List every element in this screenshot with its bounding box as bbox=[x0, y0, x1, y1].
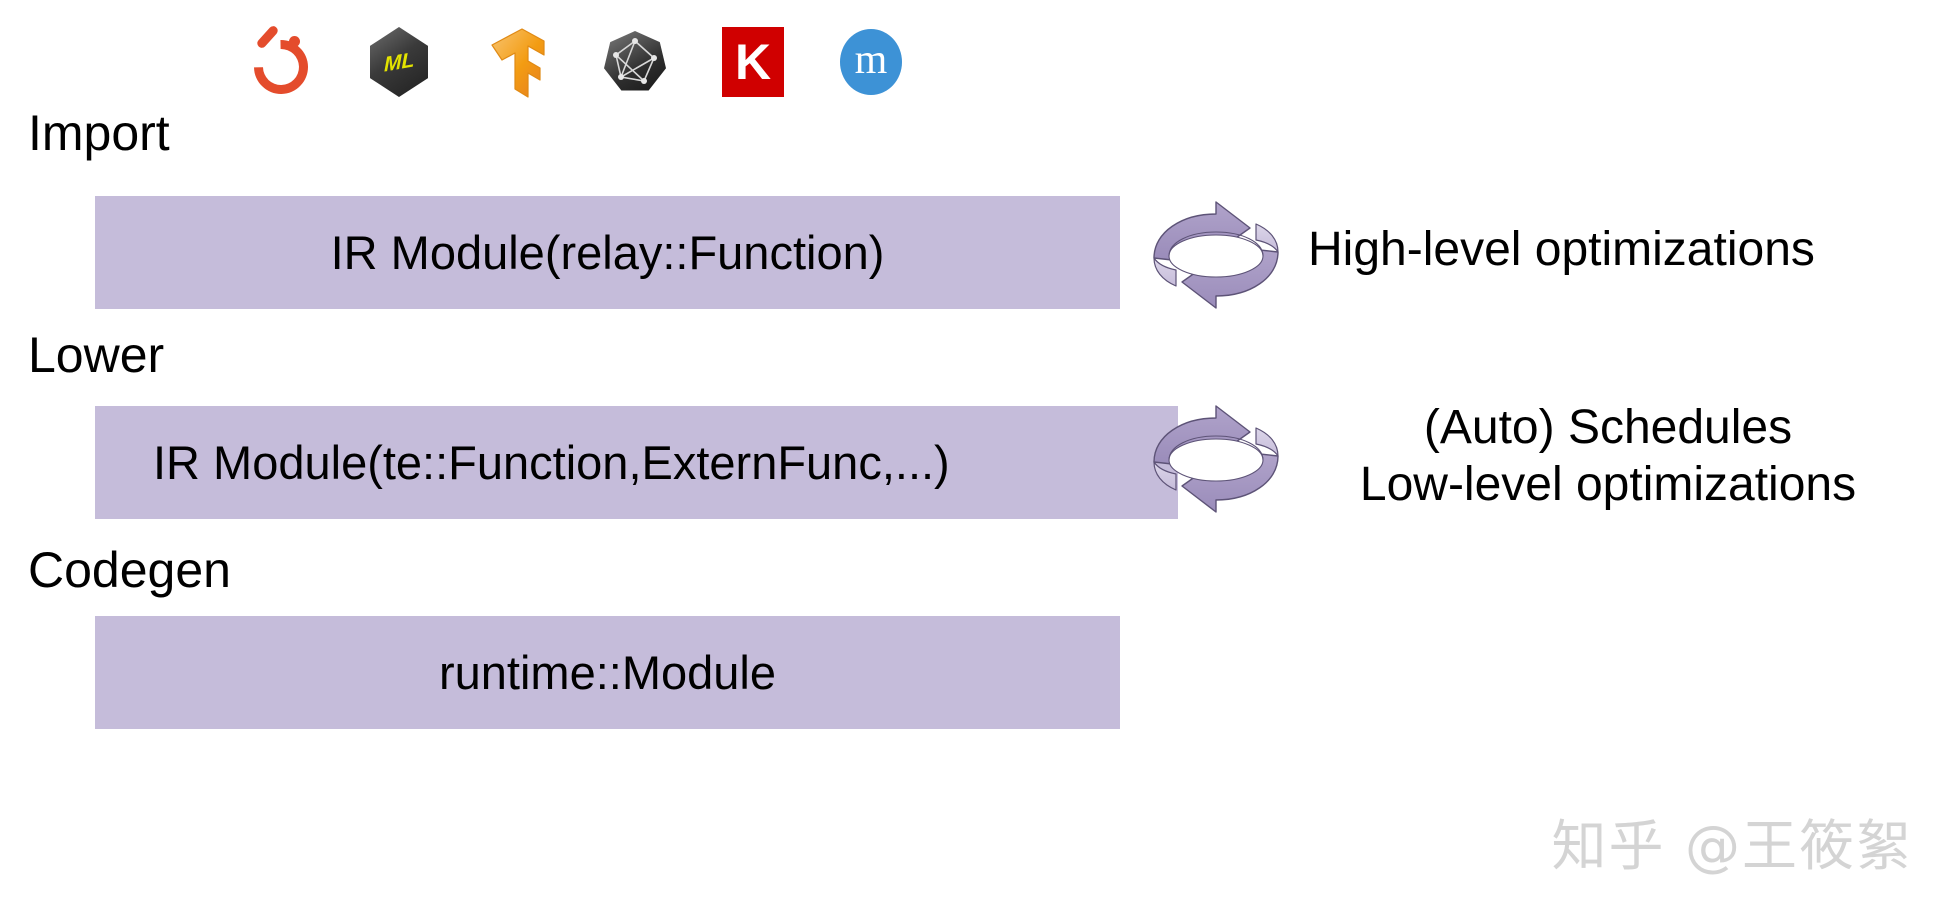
coreml-icon-glyph: m bbox=[855, 39, 888, 81]
module-box-te-label: IR Module(te::Function,ExternFunc,...) bbox=[153, 439, 950, 486]
cycle-arrows-icon bbox=[1142, 196, 1290, 314]
note-low-level-optimizations: (Auto) Schedules Low-level optimizations bbox=[1308, 400, 1908, 513]
module-box-runtime: runtime::Module bbox=[95, 616, 1120, 729]
stage-label-import: Import bbox=[28, 108, 170, 158]
zhihu-watermark: 知乎 @王筱絮 bbox=[1552, 819, 1913, 874]
pytorch-icon bbox=[245, 16, 317, 108]
mxnet-icon-glyph: ML bbox=[384, 49, 414, 75]
note-high-level-optimizations: High-level optimizations bbox=[1308, 222, 1815, 279]
stage-label-codegen: Codegen bbox=[28, 545, 231, 595]
module-box-te: IR Module(te::Function,ExternFunc,...) bbox=[95, 406, 1178, 519]
keras-icon: K bbox=[717, 16, 789, 108]
note-low-level-line1: (Auto) Schedules bbox=[1308, 400, 1908, 457]
stage-label-lower: Lower bbox=[28, 330, 164, 380]
framework-logo-strip: ML bbox=[245, 14, 907, 110]
onnx-icon bbox=[599, 16, 671, 108]
note-low-level-line2: Low-level optimizations bbox=[1308, 457, 1908, 514]
diagram-canvas: ML bbox=[0, 0, 1933, 902]
cycle-arrows-icon bbox=[1142, 400, 1290, 518]
module-box-relay-label: IR Module(relay::Function) bbox=[331, 229, 885, 276]
mxnet-icon: ML bbox=[363, 16, 435, 108]
tensorflow-icon bbox=[481, 16, 553, 108]
module-box-relay: IR Module(relay::Function) bbox=[95, 196, 1120, 309]
module-box-runtime-label: runtime::Module bbox=[439, 649, 776, 696]
coreml-icon: m bbox=[835, 16, 907, 108]
keras-icon-glyph: K bbox=[735, 37, 771, 87]
